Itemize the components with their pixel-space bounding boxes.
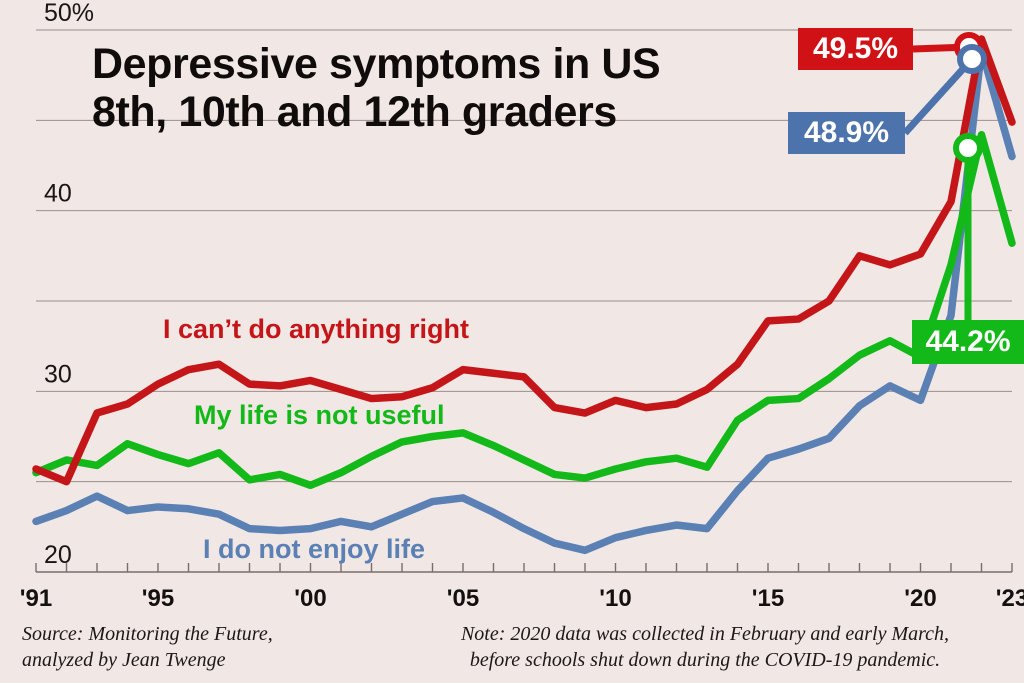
callout-green-value: 44.2% <box>925 325 1010 358</box>
blue-series-label: I do not enjoy life <box>203 534 425 564</box>
callout-blue: 48.9% <box>788 112 905 154</box>
y-axis-label-30: 30 <box>44 360 72 388</box>
marker-green <box>956 136 980 160</box>
x-axis-label-2005: '05 <box>447 585 479 612</box>
x-axis-label-1991: '91 <box>20 585 52 612</box>
x-axis-label-2010: '10 <box>599 585 631 612</box>
marker-blue <box>960 47 984 71</box>
source-credit: Source: Monitoring the Future, analyzed … <box>22 622 362 673</box>
callout-green: 44.2% <box>912 320 1024 364</box>
y-axis-label-20: 20 <box>44 541 72 569</box>
page-title: Depressive symptoms in US 8th, 10th and … <box>92 40 752 136</box>
chart-note: Note: 2020 data was collected in Februar… <box>400 622 1010 673</box>
x-axis-labels-group: '91'95'00'05'10'15'20'23 <box>20 585 1024 612</box>
x-axis-label-2020: '20 <box>904 585 936 612</box>
source-line-2: analyzed by Jean Twenge <box>22 648 362 674</box>
callout-blue-value: 48.9% <box>804 116 889 149</box>
series-line-1 <box>36 135 1012 485</box>
green-series-label: My life is not useful <box>194 400 445 430</box>
y-axis-label-50: 50% <box>44 0 94 27</box>
source-line-1: Source: Monitoring the Future, <box>22 622 362 648</box>
x-axis-label-2015: '15 <box>752 585 784 612</box>
page-title-line2: 8th, 10th and 12th graders <box>92 88 752 136</box>
x-axis-label-2000: '00 <box>294 585 326 612</box>
x-axis-label-1995: '95 <box>142 585 174 612</box>
y-axis-label-40: 40 <box>44 180 72 208</box>
red-series-label: I can’t do anything right <box>163 314 469 344</box>
note-line-2: before schools shut down during the COVI… <box>400 648 1010 674</box>
page-title-line1: Depressive symptoms in US <box>92 40 752 88</box>
x-axis-label-2023: '23 <box>996 585 1024 612</box>
callout-leaders-group <box>905 47 972 320</box>
chart-page: 50%403020 '91'95'00'05'10'15'20'23 I can… <box>0 0 1024 683</box>
callout-red-value: 49.5% <box>813 32 898 65</box>
callout-red: 49.5% <box>798 28 913 70</box>
note-line-1: Note: 2020 data was collected in Februar… <box>400 622 1010 648</box>
footer: Source: Monitoring the Future, analyzed … <box>0 620 1024 683</box>
x-tickmarks-group <box>36 563 1012 572</box>
